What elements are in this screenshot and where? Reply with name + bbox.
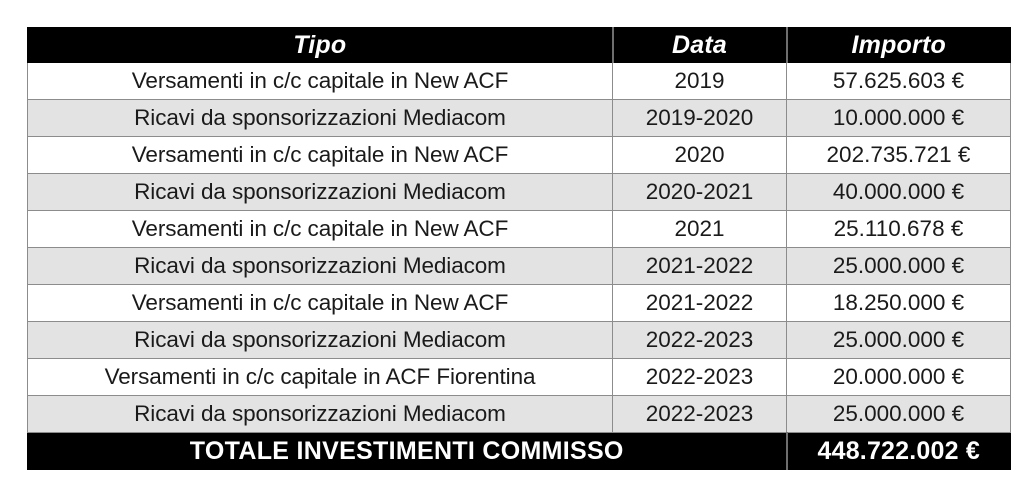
page-root: Tipo Data Importo Versamenti in c/c capi…	[0, 0, 1024, 486]
table-row: Ricavi da sponsorizzazioni Mediacom2022-…	[28, 322, 1011, 359]
total-amount: 448.722.002 €	[787, 433, 1011, 470]
investments-table: Tipo Data Importo Versamenti in c/c capi…	[27, 27, 1011, 470]
table-row: Ricavi da sponsorizzazioni Mediacom2021-…	[28, 248, 1011, 285]
cell-data: 2020-2021	[613, 174, 787, 211]
cell-importo: 25.000.000 €	[787, 322, 1011, 359]
cell-data: 2022-2023	[613, 322, 787, 359]
table-header: Tipo Data Importo	[28, 28, 1011, 63]
cell-data: 2020	[613, 137, 787, 174]
cell-importo: 20.000.000 €	[787, 359, 1011, 396]
cell-importo: 57.625.603 €	[787, 63, 1011, 100]
cell-data: 2021-2022	[613, 248, 787, 285]
cell-data: 2019	[613, 63, 787, 100]
cell-importo: 202.735.721 €	[787, 137, 1011, 174]
cell-tipo: Versamenti in c/c capitale in New ACF	[28, 211, 613, 248]
table-row: Versamenti in c/c capitale in New ACF202…	[28, 211, 1011, 248]
cell-importo: 18.250.000 €	[787, 285, 1011, 322]
table-row: Versamenti in c/c capitale in New ACF201…	[28, 63, 1011, 100]
cell-tipo: Versamenti in c/c capitale in New ACF	[28, 137, 613, 174]
table-body: Versamenti in c/c capitale in New ACF201…	[28, 63, 1011, 433]
cell-data: 2022-2023	[613, 359, 787, 396]
cell-tipo: Versamenti in c/c capitale in ACF Fioren…	[28, 359, 613, 396]
table-row: Versamenti in c/c capitale in ACF Fioren…	[28, 359, 1011, 396]
table-footer: TOTALE INVESTIMENTI COMMISSO 448.722.002…	[28, 433, 1011, 470]
column-header-tipo[interactable]: Tipo	[28, 28, 613, 63]
cell-tipo: Versamenti in c/c capitale in New ACF	[28, 285, 613, 322]
column-header-importo[interactable]: Importo	[787, 28, 1011, 63]
cell-tipo: Versamenti in c/c capitale in New ACF	[28, 63, 613, 100]
table-row: Versamenti in c/c capitale in New ACF202…	[28, 137, 1011, 174]
cell-data: 2021	[613, 211, 787, 248]
cell-data: 2021-2022	[613, 285, 787, 322]
cell-importo: 25.000.000 €	[787, 396, 1011, 433]
cell-tipo: Ricavi da sponsorizzazioni Mediacom	[28, 396, 613, 433]
table-row: Ricavi da sponsorizzazioni Mediacom2022-…	[28, 396, 1011, 433]
cell-importo: 40.000.000 €	[787, 174, 1011, 211]
cell-data: 2019-2020	[613, 100, 787, 137]
table-row: Versamenti in c/c capitale in New ACF202…	[28, 285, 1011, 322]
cell-importo: 25.000.000 €	[787, 248, 1011, 285]
column-header-data[interactable]: Data	[613, 28, 787, 63]
header-row: Tipo Data Importo	[28, 28, 1011, 63]
cell-tipo: Ricavi da sponsorizzazioni Mediacom	[28, 100, 613, 137]
table-row: Ricavi da sponsorizzazioni Mediacom2020-…	[28, 174, 1011, 211]
cell-tipo: Ricavi da sponsorizzazioni Mediacom	[28, 248, 613, 285]
table-row: Ricavi da sponsorizzazioni Mediacom2019-…	[28, 100, 1011, 137]
cell-tipo: Ricavi da sponsorizzazioni Mediacom	[28, 322, 613, 359]
cell-tipo: Ricavi da sponsorizzazioni Mediacom	[28, 174, 613, 211]
cell-importo: 10.000.000 €	[787, 100, 1011, 137]
total-label: TOTALE INVESTIMENTI COMMISSO	[28, 433, 787, 470]
cell-data: 2022-2023	[613, 396, 787, 433]
cell-importo: 25.110.678 €	[787, 211, 1011, 248]
total-row: TOTALE INVESTIMENTI COMMISSO 448.722.002…	[28, 433, 1011, 470]
